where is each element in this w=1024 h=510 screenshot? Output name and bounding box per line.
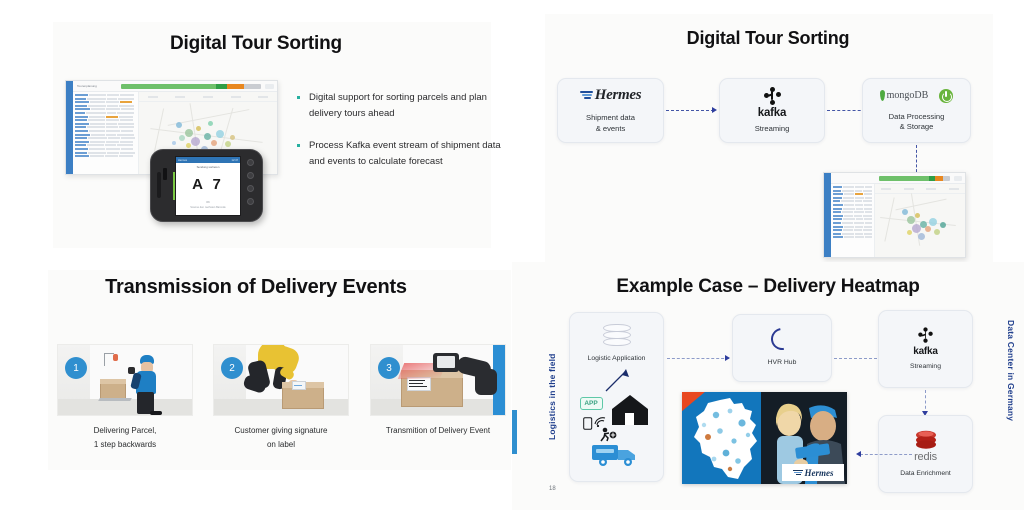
upload-arrow-icon — [602, 367, 632, 393]
table-row — [75, 94, 136, 96]
node-caption-line1: Streaming — [755, 124, 790, 134]
dashboard-progress-bar — [879, 176, 950, 181]
table-row — [75, 137, 136, 139]
step-card-3: 3 Transmition of Delivery Event — [370, 344, 506, 437]
list-item: Process Kafka event stream of shipment d… — [297, 138, 512, 171]
step-illustration-2: 2 — [213, 344, 349, 416]
germany-heatmap-icon — [690, 397, 768, 481]
arrow-logistic-to-hvr — [667, 358, 729, 359]
hermes-wordmark: Hermes — [805, 468, 834, 478]
device-key-power[interactable] — [247, 159, 254, 166]
dashboard-menu-icon[interactable] — [265, 84, 274, 89]
redis-logo-icon — [913, 430, 939, 450]
page-title-tr: Digital Tour Sorting — [512, 28, 1024, 49]
hvr-hub-ring-icon — [767, 324, 798, 355]
dashboard-table — [831, 184, 875, 257]
delivery-heatmap-photo: Hermes — [682, 392, 847, 484]
node-hermes[interactable]: Hermes Shipment data & events — [557, 78, 664, 143]
step-caption-line1: Customer giving signature — [213, 425, 349, 437]
arrow-hermes-to-kafka — [666, 110, 714, 111]
table-row — [75, 152, 136, 154]
kafka-logo-icon — [764, 87, 781, 106]
arrow-head-icon — [725, 355, 730, 361]
hermes-logo-icon: Hermes — [580, 87, 642, 104]
table-row — [833, 236, 872, 238]
database-stack-icon — [603, 324, 631, 350]
step-caption-line1: Delivering Parcel, — [57, 425, 193, 437]
kafka-wordmark: kafka — [913, 346, 938, 357]
device-screen: Hermes 12:47 Sendung sortieren A 7 OK Sc… — [175, 156, 241, 216]
table-row — [833, 218, 872, 220]
tour-planning-dashboard-image-2 — [823, 172, 966, 258]
node-caption-line2: & events — [596, 124, 626, 134]
table-row — [75, 112, 136, 114]
node-logistic-application[interactable]: Logistic Application APP — [569, 312, 664, 482]
dashboard-toolbar — [831, 173, 965, 184]
handheld-scanner-device: Hermes 12:47 Sendung sortieren A 7 OK Sc… — [150, 149, 263, 222]
table-row — [833, 215, 872, 217]
mongodb-logo-icon: mongoDB — [880, 90, 929, 101]
node-caption-line1: Data Processing — [889, 112, 945, 122]
progress-ok2 — [216, 84, 227, 89]
step-number-badge: 3 — [378, 357, 400, 379]
device-header-right: 12:47 — [232, 159, 239, 162]
table-row — [75, 119, 136, 121]
node-kafka-br[interactable]: kafka Streaming — [878, 310, 973, 388]
node-caption: HVR Hub — [768, 358, 797, 367]
table-row — [833, 193, 872, 195]
table-row — [75, 155, 136, 157]
step-illustration-3: 3 — [370, 344, 506, 416]
table-row — [75, 105, 136, 107]
device-footer-text: Scanne den nachsten Barcode — [176, 206, 240, 209]
bullet-list-tl: Digital support for sorting parcels and … — [297, 90, 512, 185]
app-badge: APP — [580, 397, 603, 410]
left-edge-accent — [512, 410, 517, 454]
node-caption-line1: Shipment data — [586, 113, 635, 123]
table-row — [75, 130, 136, 132]
table-row — [75, 101, 136, 103]
step-caption-line2: on label — [213, 439, 349, 451]
table-row — [833, 226, 872, 228]
dashboard-progress-bar — [121, 84, 261, 89]
bullet-text: Process Kafka event stream of shipment d… — [309, 138, 512, 171]
page-title-bl: Transmission of Delivery Events — [0, 276, 512, 299]
device-app-header: Hermes 12:47 — [176, 157, 240, 163]
page-title-br: Example Case – Delivery Heatmap — [512, 276, 1024, 298]
arrow-head-icon — [856, 451, 861, 457]
dashboard-table — [73, 92, 139, 174]
mobile-phone-icon — [583, 417, 594, 430]
map-toolbar — [875, 184, 965, 194]
spring-boot-icon — [939, 89, 953, 103]
dashboard-toolbar: Tourenplanung — [73, 81, 277, 92]
dashboard-side-rail — [824, 173, 831, 257]
slide-collage: Digital Tour Sorting Tourenplanung — [0, 0, 1024, 510]
table-row — [833, 186, 872, 188]
node-caption: Logistic Application — [588, 354, 646, 363]
device-side-button[interactable] — [157, 172, 161, 198]
kafka-logo-icon — [918, 328, 932, 344]
device-speaker-grille — [163, 168, 167, 180]
dashboard-label: Tourenplanung — [77, 84, 117, 88]
redis-wordmark: redis — [914, 451, 937, 463]
hermes-mark-icon — [580, 90, 593, 101]
bullet-square-icon — [297, 144, 300, 147]
slide-top-right: Digital Tour Sorting Hermes Shipment dat… — [512, 0, 1024, 262]
table-row — [75, 108, 136, 110]
delivery-map — [875, 184, 965, 257]
step-caption-line1: Transmition of Delivery Event — [370, 425, 506, 437]
device-key-ok[interactable] — [247, 185, 254, 192]
table-row — [75, 116, 136, 118]
page-title-tl: Digital Tour Sorting — [0, 33, 512, 55]
slide-bottom-right: Example Case – Delivery Heatmap Logistic… — [512, 262, 1024, 510]
node-caption: Streaming — [910, 362, 941, 371]
table-row — [75, 148, 136, 150]
device-key-down[interactable] — [247, 198, 254, 205]
arrow-head-icon — [712, 107, 717, 113]
step-illustration-1: 1 — [57, 344, 193, 416]
node-kafka[interactable]: kafka Streaming — [719, 78, 825, 143]
table-row — [833, 211, 872, 213]
progress-ok — [121, 84, 216, 89]
slide-bottom-left: Transmission of Delivery Events 1 D — [0, 262, 512, 510]
house-icon — [610, 393, 650, 427]
table-row — [833, 222, 872, 224]
table-row — [75, 144, 136, 146]
mongodb-logo-row: mongoDB — [880, 89, 954, 103]
progress-rest — [244, 84, 261, 89]
slide-top-left: Digital Tour Sorting Tourenplanung — [0, 0, 512, 262]
bullet-square-icon — [297, 96, 300, 99]
photo-hermes-logo: Hermes — [782, 464, 844, 481]
node-hvr-hub[interactable]: HVR Hub — [732, 314, 832, 382]
kafka-wordmark: kafka — [758, 107, 786, 119]
device-header-left: Hermes — [178, 159, 187, 162]
delivery-van-icon — [590, 441, 644, 469]
device-hint: OK — [176, 201, 240, 204]
device-key-up[interactable] — [247, 172, 254, 179]
table-row — [75, 141, 136, 143]
node-caption-line2: & Storage — [900, 122, 934, 132]
node-mongodb[interactable]: mongoDB Data Processing & Storage — [862, 78, 971, 143]
table-row — [75, 134, 136, 136]
device-sort-value: A 7 — [176, 176, 240, 193]
dashboard-menu-icon[interactable] — [954, 176, 962, 181]
dashboard-content — [831, 184, 965, 257]
table-row — [75, 123, 136, 125]
table-row — [75, 126, 136, 128]
dashboard-side-rail — [66, 81, 73, 174]
step-caption-line2: 1 step backwards — [57, 439, 193, 451]
table-row — [833, 200, 872, 202]
courier-walking-icon — [600, 427, 620, 442]
mongodb-wordmark: mongoDB — [887, 90, 929, 101]
step-number-badge: 1 — [65, 357, 87, 379]
step-card-1: 1 Delivering Parcel, 1 step backwards — [57, 344, 193, 452]
table-row — [833, 197, 872, 199]
table-row — [833, 190, 872, 192]
table-row — [833, 208, 872, 210]
table-row — [833, 233, 872, 235]
step-card-2: 2 Customer giving signature on label — [213, 344, 349, 452]
dashboard-body — [831, 173, 965, 257]
table-row — [75, 98, 136, 100]
map-toolbar — [139, 92, 277, 102]
page-number: 18 — [549, 486, 556, 492]
zone-label-datacenter: Data Center in Germany — [1006, 320, 1016, 460]
node-caption: Data Enrichment — [900, 469, 951, 478]
wifi-signal-icon — [594, 415, 606, 427]
table-row — [833, 229, 872, 231]
bullet-text: Digital support for sorting parcels and … — [309, 90, 512, 123]
progress-warn — [227, 84, 244, 89]
field-icons-group: APP — [574, 391, 660, 441]
step-number-badge: 2 — [221, 357, 243, 379]
device-keypad[interactable] — [247, 159, 254, 205]
device-subtitle: Sendung sortieren — [176, 165, 240, 169]
hermes-wordmark: Hermes — [595, 87, 642, 104]
mongodb-leaf-icon — [880, 90, 885, 101]
zone-label-logistics: Logistics in the field — [547, 330, 557, 440]
table-row — [833, 204, 872, 206]
list-item: Digital support for sorting parcels and … — [297, 90, 512, 123]
arrow-redis-to-map — [860, 454, 912, 455]
hermes-mark-icon — [793, 469, 803, 477]
